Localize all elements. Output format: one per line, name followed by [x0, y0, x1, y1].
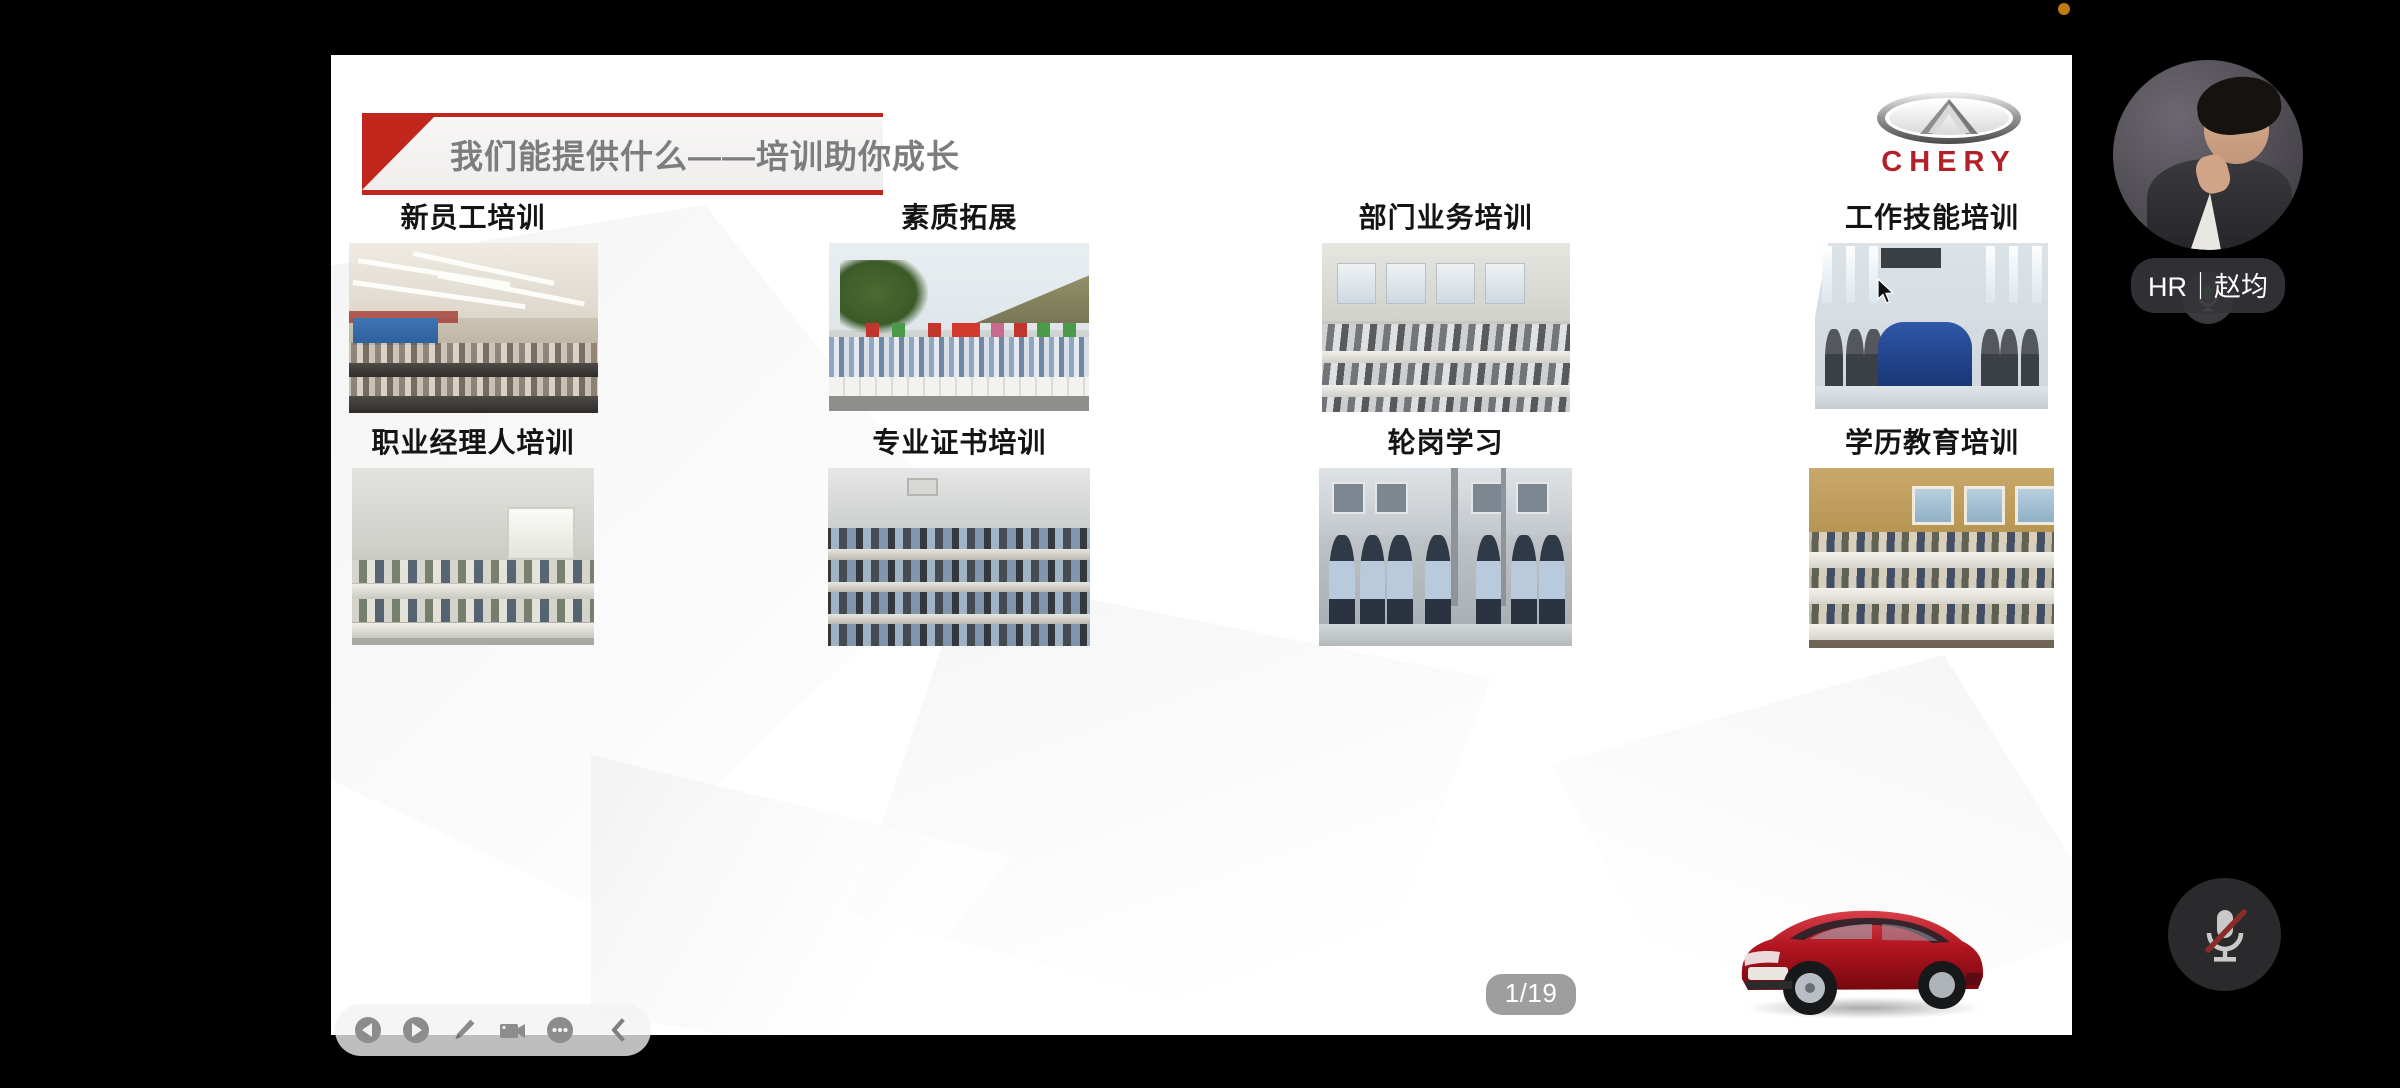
- auditorium-training-photo: [349, 243, 598, 413]
- training-card[interactable]: 新员工培训: [345, 203, 601, 413]
- training-card[interactable]: 工作技能培训: [1804, 203, 2060, 413]
- factory-rotation-photo: [1319, 468, 1572, 646]
- training-card[interactable]: 学历教育培训: [1804, 428, 2060, 648]
- training-card-label: 职业经理人培训: [371, 428, 574, 459]
- outdoor-teambuilding-photo: [829, 243, 1089, 411]
- training-card-label: 新员工培训: [400, 203, 545, 234]
- recording-indicator-dot: [2058, 3, 2070, 15]
- slide-background-shape: [591, 755, 1011, 1035]
- more-options-button[interactable]: [539, 1009, 581, 1051]
- chevron-left-icon: [606, 1017, 630, 1043]
- annotate-button[interactable]: [443, 1009, 485, 1051]
- slide-title: 我们能提供什么——培训助你成长: [450, 130, 960, 178]
- avatar: [2113, 60, 2303, 250]
- ellipsis-circle-icon: [545, 1015, 575, 1045]
- video-camera-icon: [496, 1015, 528, 1045]
- training-card[interactable]: 部门业务培训: [1318, 203, 1574, 413]
- training-card[interactable]: 专业证书培训: [831, 428, 1087, 648]
- car-inspection-bay-photo: [1815, 243, 2048, 409]
- lecture-hall-photo: [1809, 468, 2054, 648]
- chery-oval-emblem-icon: [1874, 90, 2024, 146]
- presentation-toolbar[interactable]: [335, 1004, 651, 1056]
- training-row-1: 新员工培训: [331, 203, 2072, 413]
- training-card[interactable]: 职业经理人培训: [345, 428, 601, 648]
- training-categories-grid: 新员工培训: [331, 203, 2072, 648]
- training-card-label: 工作技能培训: [1845, 203, 2019, 234]
- participant-name: HR｜赵均: [2131, 258, 2285, 313]
- training-card[interactable]: 轮岗学习: [1318, 428, 1574, 648]
- red-suv-illustration-icon: [1726, 893, 1996, 1021]
- department-meeting-photo: [1322, 243, 1570, 412]
- avatar-hair: [2193, 72, 2283, 139]
- participant-tile[interactable]: HR｜赵均: [2113, 60, 2303, 310]
- training-card[interactable]: 素质拓展: [831, 203, 1087, 413]
- training-card-label: 部门业务培训: [1359, 203, 1533, 234]
- training-card-label: 专业证书培训: [872, 428, 1046, 459]
- mute-toggle-button[interactable]: [2168, 878, 2281, 991]
- training-row-2: 职业经理人培训 专业证书培训: [331, 428, 2072, 648]
- video-button[interactable]: [491, 1009, 533, 1051]
- screen-share-stage: 我们能提供什么——培训助你成长: [0, 0, 2400, 1088]
- microphone-muted-icon: [2194, 902, 2256, 968]
- title-band-bottom-rule: [362, 190, 883, 195]
- brand-wordmark: CHERY: [1865, 148, 2033, 177]
- page-indicator: 1/19: [1486, 974, 1576, 1015]
- certificate-class-photo: [828, 468, 1090, 646]
- next-slide-button[interactable]: [395, 1009, 437, 1051]
- training-card-label: 学历教育培训: [1845, 428, 2019, 459]
- arrow-left-circle-icon: [353, 1015, 383, 1045]
- slide-title-band: 我们能提供什么——培训助你成长: [362, 113, 883, 195]
- play-circle-icon: [401, 1015, 431, 1045]
- previous-slide-button[interactable]: [347, 1009, 389, 1051]
- presentation-slide[interactable]: 我们能提供什么——培训助你成长: [331, 55, 2072, 1035]
- brand-logo: CHERY: [1865, 90, 2033, 182]
- manager-workshop-photo: [352, 468, 594, 645]
- training-card-label: 轮岗学习: [1388, 428, 1504, 459]
- pencil-icon: [449, 1015, 479, 1045]
- training-card-label: 素质拓展: [901, 203, 1017, 234]
- collapse-toolbar-button[interactable]: [597, 1009, 639, 1051]
